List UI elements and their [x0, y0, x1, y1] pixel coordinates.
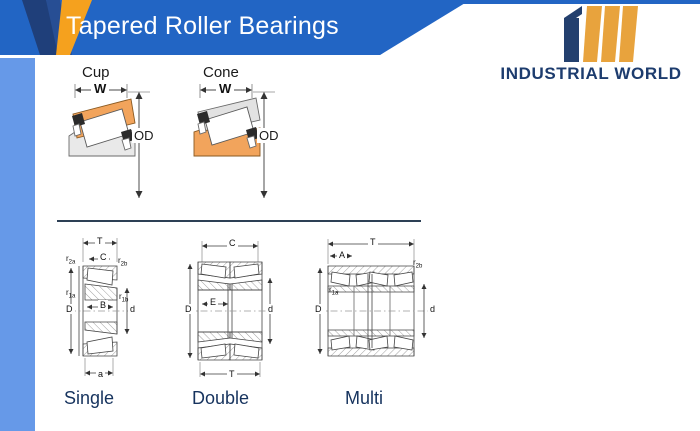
double-bearing-diagram [176, 228, 298, 386]
logo-w-stroke-2 [601, 6, 620, 62]
single-label-r-4: r1b [119, 292, 128, 304]
single-label-T: T [95, 236, 105, 246]
multi-r-2-sub: 1a [332, 291, 339, 297]
single-label-d: d [128, 304, 137, 314]
cone-od-dimension [253, 86, 275, 204]
slide-canvas: Tapered Roller Bearings INDUSTRIAL WORLD… [0, 0, 700, 431]
single-r-2-sub: 2b [121, 262, 128, 268]
logo-i-bar [564, 18, 579, 62]
logo-w-stroke-1 [583, 6, 602, 62]
single-label-r-3: r1a [66, 288, 75, 300]
double-label-E: E [208, 297, 218, 307]
double-label-D: D [183, 304, 194, 314]
cup-od-label: OD [132, 128, 156, 143]
single-r-4-sub: 1b [122, 298, 129, 304]
single-label-r-1: r2a [66, 254, 75, 266]
single-label-a: a [96, 369, 105, 379]
logo-w-stroke-3 [619, 6, 638, 62]
multi-label-r-2: r1a [329, 285, 338, 297]
multi-label-d: d [428, 304, 437, 314]
cup-caption: Cup [82, 64, 110, 81]
double-label-T: T [227, 369, 237, 379]
double-label-d: d [266, 304, 275, 314]
cup-od-dimension [128, 86, 150, 204]
page-title: Tapered Roller Bearings [66, 12, 339, 41]
single-label-C: C [98, 252, 109, 262]
double-label-C: C [227, 238, 238, 248]
cup-diagram [55, 82, 185, 207]
multi-label-D: D [313, 304, 324, 314]
cup-w-label: W [91, 81, 109, 96]
multi-label-r-1: r2b [413, 258, 422, 270]
logo-wordmark: INDUSTRIAL WORLD [486, 64, 696, 84]
single-r-3-sub: 1a [69, 294, 76, 300]
multi-r-1-sub: 2b [416, 264, 423, 270]
single-r-1-sub: 2a [69, 260, 76, 266]
section-divider [57, 220, 421, 222]
cone-od-label: OD [257, 128, 281, 143]
industrial-world-logo-icon [486, 4, 696, 64]
brand-logo: INDUSTRIAL WORLD [486, 4, 696, 92]
single-label-r-2: r2b [118, 256, 127, 268]
multi-caption: Multi [345, 388, 383, 409]
cone-w-label: W [216, 81, 234, 96]
multi-bearing-diagram [310, 228, 442, 386]
cone-caption: Cone [203, 64, 239, 81]
single-label-B: B [98, 300, 108, 310]
multi-label-A: A [337, 250, 347, 260]
multi-label-T: T [368, 237, 378, 247]
double-caption: Double [192, 388, 249, 409]
single-label-D: D [64, 304, 75, 314]
left-accent-rail [0, 58, 35, 431]
single-caption: Single [64, 388, 114, 409]
cone-diagram [182, 82, 307, 207]
